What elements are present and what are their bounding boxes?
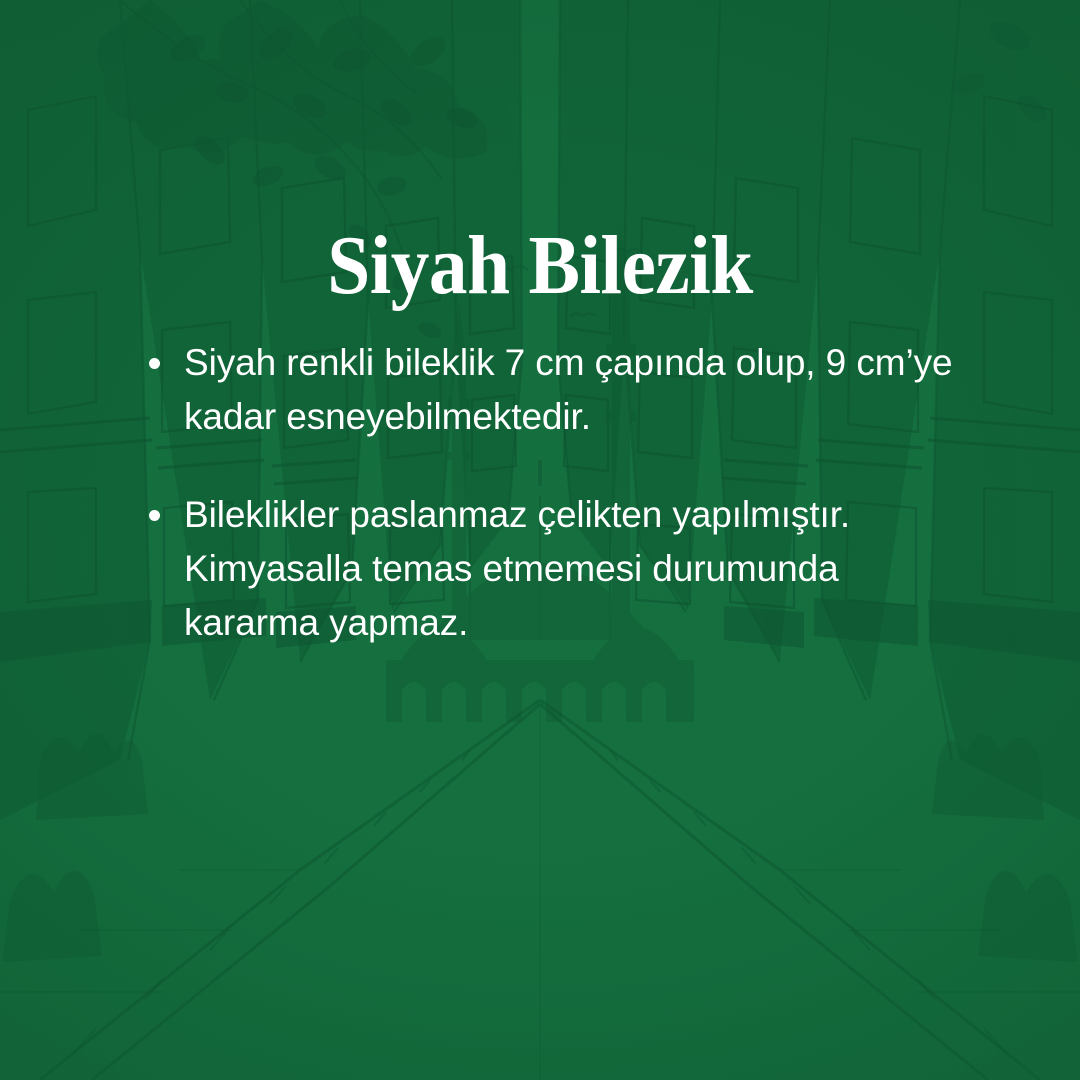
- page-title: Siyah Bilezik: [43, 224, 1037, 308]
- bullet-dot-icon: [149, 510, 160, 521]
- slide-content: Siyah Bilezik Siyah renkli bileklik 7 cm…: [0, 0, 1080, 1080]
- bullet-dot-icon: [149, 358, 160, 369]
- list-item-text: Bileklikler paslanmaz çelikten yapılmışt…: [184, 488, 968, 650]
- list-item: Bileklikler paslanmaz çelikten yapılmışt…: [138, 488, 968, 650]
- list-item: Siyah renkli bileklik 7 cm çapında olup,…: [138, 336, 968, 444]
- feature-bullet-list: Siyah renkli bileklik 7 cm çapında olup,…: [138, 336, 968, 650]
- product-info-slide: Siyah Bilezik Siyah renkli bileklik 7 cm…: [0, 0, 1080, 1080]
- list-item-text: Siyah renkli bileklik 7 cm çapında olup,…: [184, 336, 968, 444]
